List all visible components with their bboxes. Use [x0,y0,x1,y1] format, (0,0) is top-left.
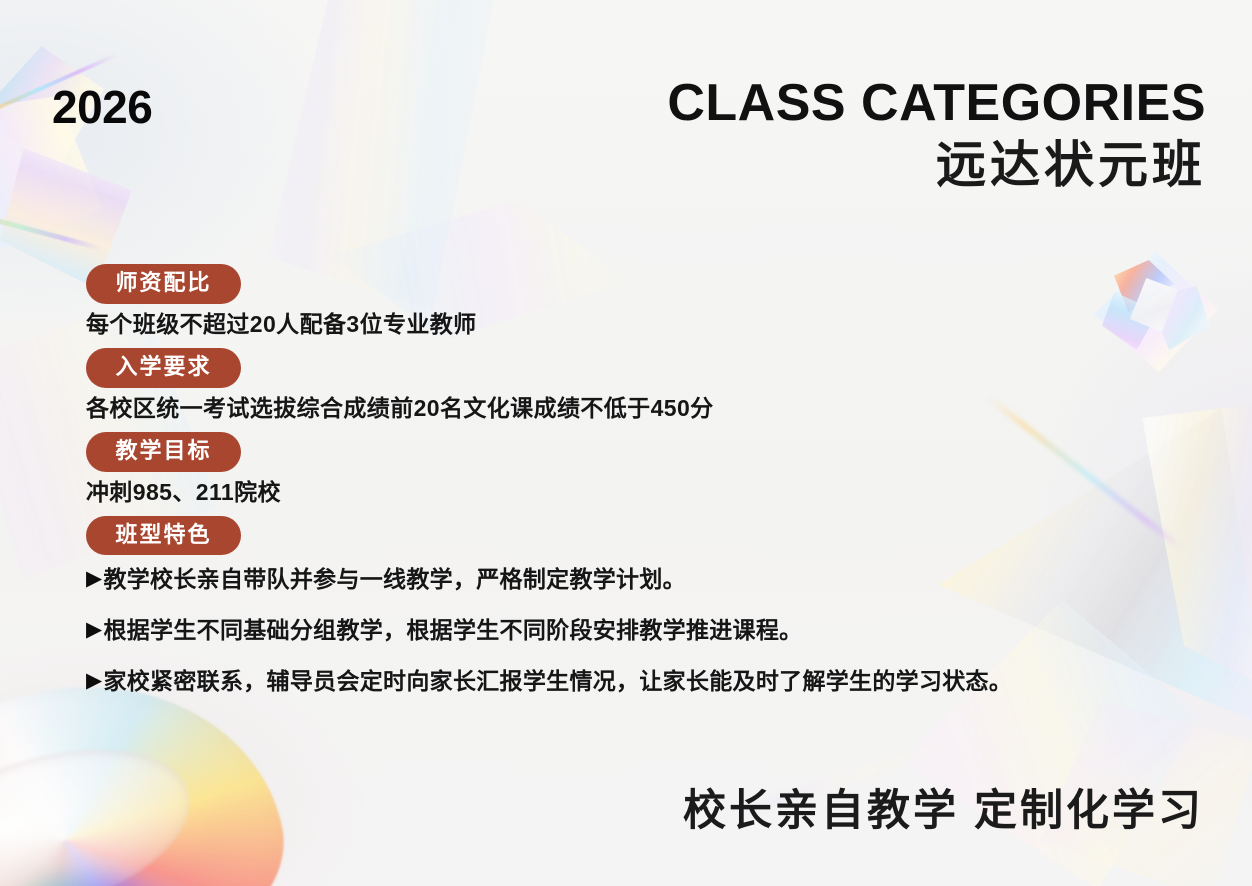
headline-block: CLASS CATEGORIES 远达状元班 [667,76,1206,193]
triangle-bullet-icon: ▶ [86,565,102,594]
feature-list: ▶ 教学校长亲自带队并参与一线教学，严格制定教学计划。 ▶ 根据学生不同基础分组… [86,565,1196,697]
poster-content: 2026 CLASS CATEGORIES 远达状元班 师资配比 每个班级不超过… [0,0,1252,886]
list-item: ▶ 教学校长亲自带队并参与一线教学，严格制定教学计划。 [86,565,1196,595]
feature-text: 根据学生不同基础分组教学，根据学生不同阶段安排教学推进课程。 [103,616,1196,646]
triangle-bullet-icon: ▶ [86,616,102,645]
headline-chinese: 远达状元班 [667,137,1206,193]
list-item: ▶ 根据学生不同基础分组教学，根据学生不同阶段安排教学推进课程。 [86,616,1196,646]
section-admission-requirements: 入学要求 各校区统一考试选拔综合成绩前20名文化课成绩不低于450分 [86,348,1196,424]
section-class-features: 班型特色 ▶ 教学校长亲自带队并参与一线教学，严格制定教学计划。 ▶ 根据学生不… [86,516,1196,698]
section-badge: 入学要求 [86,348,241,388]
feature-text: 家校紧密联系，辅导员会定时向家长汇报学生情况，让家长能及时了解学生的学习状态。 [103,667,1196,697]
list-item: ▶ 家校紧密联系，辅导员会定时向家长汇报学生情况，让家长能及时了解学生的学习状态… [86,667,1196,697]
feature-text: 教学校长亲自带队并参与一线教学，严格制定教学计划。 [103,565,1196,595]
section-badge: 师资配比 [86,264,241,304]
headline-english: CLASS CATEGORIES [667,76,1206,131]
sections-list: 师资配比 每个班级不超过20人配备3位专业教师 入学要求 各校区统一考试选拔综合… [86,264,1196,718]
section-teaching-goal: 教学目标 冲刺985、211院校 [86,432,1196,508]
poster-canvas: 2026 CLASS CATEGORIES 远达状元班 师资配比 每个班级不超过… [0,0,1252,886]
section-teacher-ratio: 师资配比 每个班级不超过20人配备3位专业教师 [86,264,1196,340]
section-body-text: 每个班级不超过20人配备3位专业教师 [86,310,1196,340]
footer-tagline: 校长亲自教学 定制化学习 [683,776,1204,838]
section-badge: 教学目标 [86,432,241,472]
section-body-text: 冲刺985、211院校 [86,478,1196,508]
triangle-bullet-icon: ▶ [86,667,102,696]
year-label: 2026 [52,84,152,130]
section-body-text: 各校区统一考试选拔综合成绩前20名文化课成绩不低于450分 [86,394,1196,424]
section-badge: 班型特色 [86,516,241,556]
